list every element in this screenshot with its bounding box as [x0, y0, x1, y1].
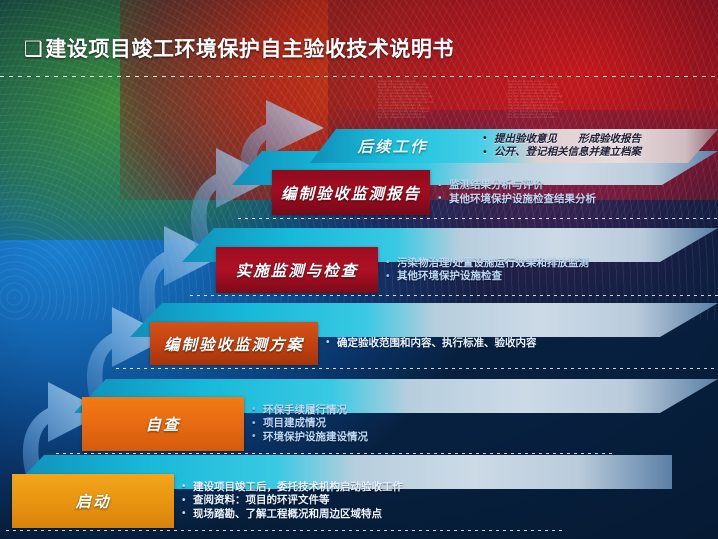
step-report-label[interactable]: 编制验收监测报告: [272, 170, 430, 215]
step-monitor-panel: 污染物治理/处置设施运行效果和排放监测 其他环境保护设施检查: [378, 247, 708, 293]
step-report-divider: [238, 218, 718, 219]
step-report-panel: 监测结果分析与评价 其他环境保护设施检查结果分析: [430, 170, 716, 215]
list-item: 环境保护设施建设情况: [252, 431, 624, 445]
list-item: 其他环境保护设施检查: [386, 270, 708, 284]
step-report-bullet-list: 监测结果分析与评价 其他环境保护设施检查结果分析: [438, 179, 716, 206]
step-monitor-divider: [190, 295, 718, 296]
list-item: 建设项目竣工后，委托技术机构启动验收工作: [182, 481, 594, 495]
slide-canvas: Module: 0x0 sfc verify only scan Module:…: [0, 0, 718, 539]
list-item: 现场踏勘、了解工程概况和周边区域特点: [182, 508, 594, 522]
step-plan-label[interactable]: 编制验收监测方案: [150, 322, 318, 365]
step-selfcheck-divider: [56, 453, 616, 454]
step-selfcheck-label-text: 自查: [145, 413, 180, 435]
title-divider: [0, 76, 718, 77]
step-start-divider: [6, 530, 566, 531]
page-title-text: 建设项目竣工环境保护自主验收技术说明书: [45, 38, 454, 61]
list-item: 其他环境保护设施检查结果分析: [438, 193, 716, 207]
step-monitor-label[interactable]: 实施监测与检查: [216, 247, 378, 293]
list-item: 监测结果分析与评价: [438, 179, 716, 193]
step-plan-bullet-list: 确定验收范围和内容、执行标准、验收内容: [326, 337, 688, 351]
list-item: 确定验收范围和内容、执行标准、验收内容: [326, 337, 688, 351]
list-item: 污染物治理/处置设施运行效果和排放监测: [386, 257, 708, 271]
list-item: 项目建成情况: [252, 417, 624, 431]
step-start-bullet-list: 建设项目竣工后，委托技术机构启动验收工作 查阅资料：项目的环评文件等 现场踏勘、…: [182, 481, 594, 522]
step-start-label[interactable]: 启动: [12, 474, 174, 528]
step-monitor-label-text: 实施监测与检查: [236, 259, 359, 281]
step-followup-platform: [310, 129, 718, 163]
step-selfcheck-bullet-list: 环保手续履行情况 项目建成情况 环境保护设施建设情况: [252, 404, 624, 445]
step-start-label-text: 启动: [75, 490, 110, 512]
list-item: 环保手续履行情况: [252, 404, 624, 418]
list-item: 查阅资料：项目的环评文件等: [182, 494, 594, 508]
step-report-label-text: 编制验收监测报告: [281, 182, 421, 204]
step-plan-panel: 确定验收范围和内容、执行标准、验收内容: [318, 322, 688, 365]
step-selfcheck-panel: 环保手续履行情况 项目建成情况 环境保护设施建设情况: [244, 397, 624, 451]
page-title: ❑建设项目竣工环境保护自主验收技术说明书: [24, 33, 454, 63]
step-selfcheck-label[interactable]: 自查: [82, 397, 244, 451]
step-start-panel: 建设项目竣工后，委托技术机构启动验收工作 查阅资料：项目的环评文件等 现场踏勘、…: [174, 474, 594, 528]
step-plan-divider: [116, 368, 718, 369]
step-plan-label-text: 编制验收监测方案: [164, 333, 304, 355]
square-bullet-icon: ❑: [24, 37, 43, 62]
step-monitor-bullet-list: 污染物治理/处置设施运行效果和排放监测 其他环境保护设施检查: [386, 257, 708, 284]
